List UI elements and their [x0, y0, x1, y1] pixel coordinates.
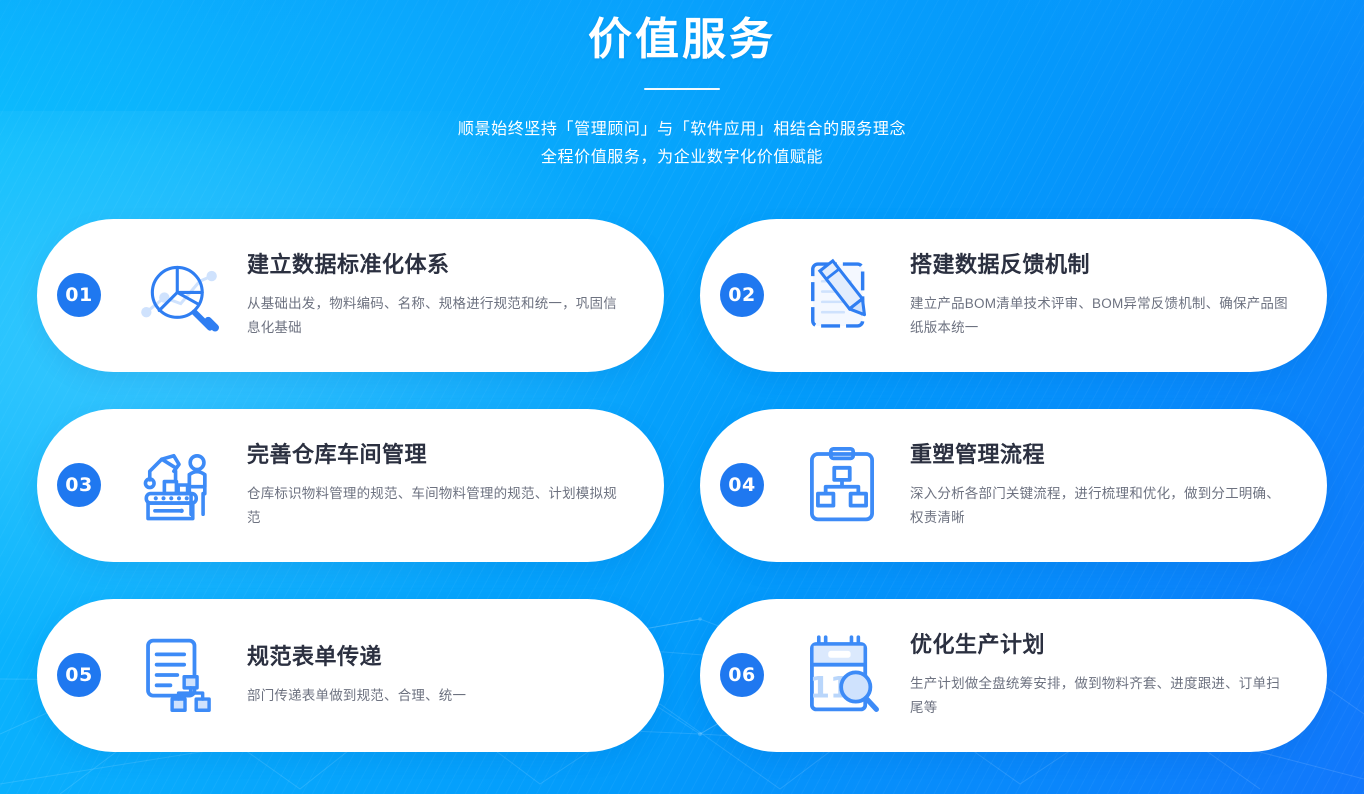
card-number-badge: 01 — [57, 273, 101, 317]
card-text-block: 建立数据标准化体系 从基础出发，物料编码、名称、规格进行规范和统一，巩固信息化基… — [247, 251, 630, 341]
pie-chart-magnifier-icon — [121, 245, 237, 345]
calendar-magnifier-icon: 11 — [784, 625, 900, 725]
card-number-badge: 03 — [57, 463, 101, 507]
card-title: 建立数据标准化体系 — [247, 251, 630, 280]
card-description: 深入分析各部门关键流程，进行梳理和优化，做到分工明确、权责清晰 — [910, 482, 1293, 530]
service-card[interactable]: 03 — [37, 409, 664, 562]
card-text-block: 重塑管理流程 深入分析各部门关键流程，进行梳理和优化，做到分工明确、权责清晰 — [910, 441, 1293, 531]
card-description: 建立产品BOM清单技术评审、BOM异常反馈机制、确保产品图纸版本统一 — [910, 292, 1293, 340]
card-text-block: 搭建数据反馈机制 建立产品BOM清单技术评审、BOM异常反馈机制、确保产品图纸版… — [910, 251, 1293, 341]
service-card[interactable]: 02 搭建数据反馈机制 建立产品BOM清单技术评审、BOM异常反馈机制、确保产品… — [700, 219, 1327, 372]
service-card[interactable]: 06 11 优化生产计划 生产计划做全盘统筹安排，做到物料齐套、进度跟进、订单扫… — [700, 599, 1327, 752]
card-description: 部门传递表单做到规范、合理、统一 — [247, 684, 630, 708]
service-card[interactable]: 01 建立数据标准化体系 从基础出 — [37, 219, 664, 372]
card-number-badge: 02 — [720, 273, 764, 317]
page-subtitle: 顺景始终坚持「管理顾问」与「软件应用」相结合的服务理念 全程价值服务，为企业数字… — [0, 116, 1364, 172]
title-divider — [644, 88, 720, 90]
card-number-badge: 06 — [720, 653, 764, 697]
document-flowchart-icon — [121, 625, 237, 725]
subtitle-line-2: 全程价值服务，为企业数字化价值赋能 — [0, 144, 1364, 172]
card-text-block: 规范表单传递 部门传递表单做到规范、合理、统一 — [247, 643, 630, 709]
page-header: 价值服务 顺景始终坚持「管理顾问」与「软件应用」相结合的服务理念 全程价值服务，… — [0, 0, 1364, 172]
service-card[interactable]: 04 重塑管理流程 深入分析各部门关键流程，进行梳理和优化，做到分工明确、权责清… — [700, 409, 1327, 562]
card-title: 搭建数据反馈机制 — [910, 251, 1293, 280]
card-description: 从基础出发，物料编码、名称、规格进行规范和统一，巩固信息化基础 — [247, 292, 630, 340]
card-number-badge: 04 — [720, 463, 764, 507]
card-title: 规范表单传递 — [247, 643, 630, 672]
card-title: 重塑管理流程 — [910, 441, 1293, 470]
clipboard-hierarchy-icon — [784, 435, 900, 535]
document-pencil-icon — [784, 245, 900, 345]
service-card-grid: 01 建立数据标准化体系 从基础出 — [37, 219, 1327, 752]
card-description: 生产计划做全盘统筹安排，做到物料齐套、进度跟进、订单扫尾等 — [910, 672, 1293, 720]
card-title: 完善仓库车间管理 — [247, 441, 630, 470]
card-number-badge: 05 — [57, 653, 101, 697]
card-text-block: 优化生产计划 生产计划做全盘统筹安排，做到物料齐套、进度跟进、订单扫尾等 — [910, 631, 1293, 721]
page-title: 价值服务 — [0, 8, 1364, 72]
subtitle-line-1: 顺景始终坚持「管理顾问」与「软件应用」相结合的服务理念 — [0, 116, 1364, 144]
card-text-block: 完善仓库车间管理 仓库标识物料管理的规范、车间物料管理的规范、计划模拟规范 — [247, 441, 630, 531]
service-card[interactable]: 05 规范表单传递 部门传递表单做到规范、合理、统一 — [37, 599, 664, 752]
card-description: 仓库标识物料管理的规范、车间物料管理的规范、计划模拟规范 — [247, 482, 630, 530]
card-title: 优化生产计划 — [910, 631, 1293, 660]
factory-conveyor-worker-icon — [121, 435, 237, 535]
